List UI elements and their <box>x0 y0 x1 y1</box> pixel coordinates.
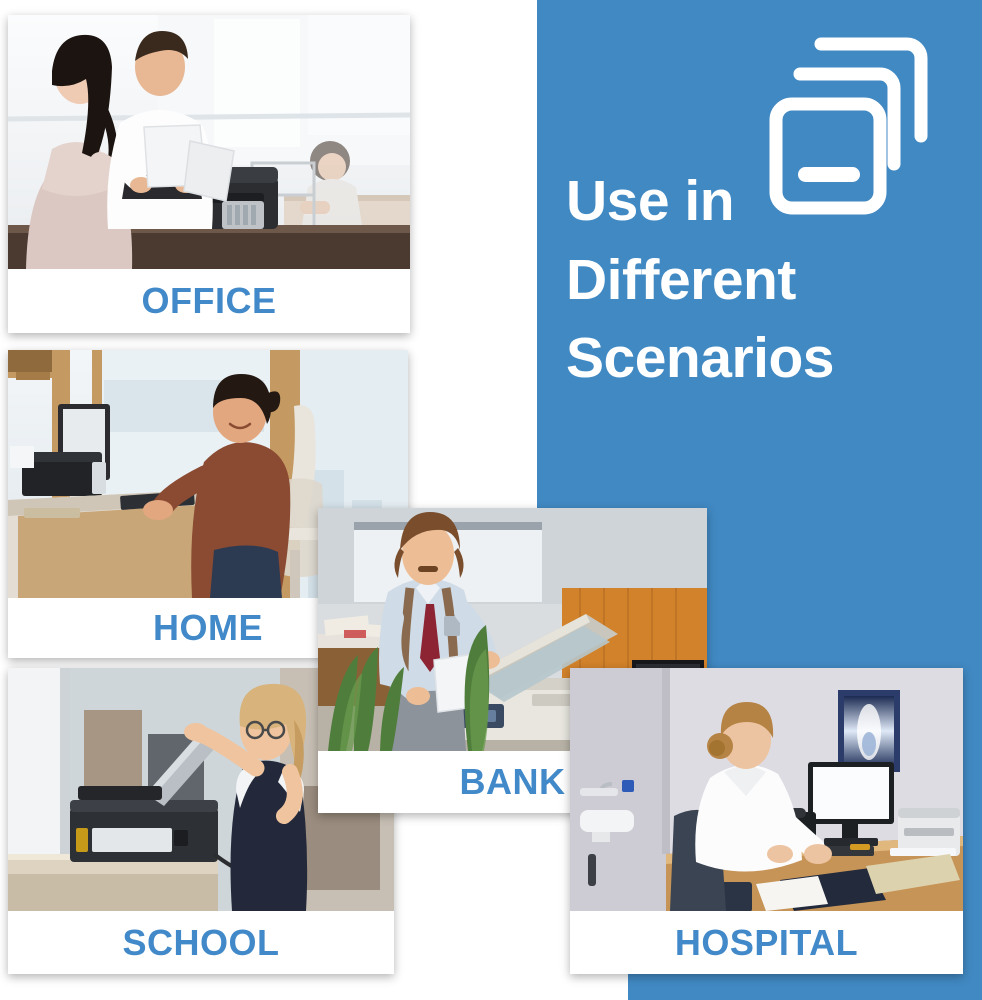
office-photo <box>8 15 410 269</box>
scenario-card-office[interactable]: OFFICE <box>8 15 410 333</box>
scenario-card-hospital[interactable]: HOSPITAL <box>570 668 963 974</box>
school-caption: SCHOOL <box>8 911 394 974</box>
hospital-caption: HOSPITAL <box>570 911 963 974</box>
hospital-photo <box>570 668 963 911</box>
stacked-pages-icon <box>768 36 936 222</box>
office-caption: OFFICE <box>8 269 410 333</box>
scenarios-infographic: Use in Different Scenarios <box>0 0 982 1000</box>
